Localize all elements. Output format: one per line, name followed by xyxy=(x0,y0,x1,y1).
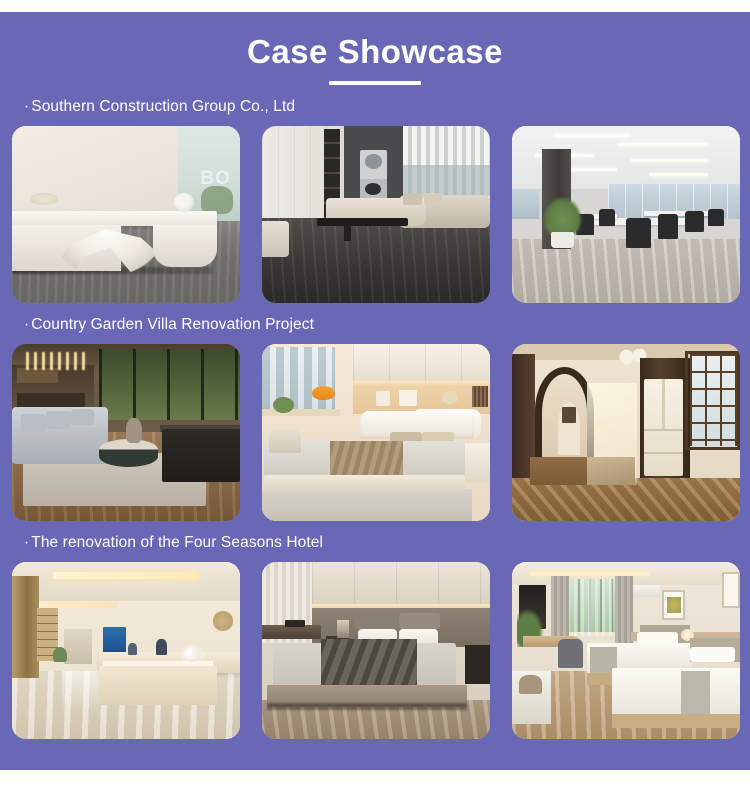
image-row: Hotel lobby with long reception counter,… xyxy=(0,562,750,739)
case-image-card[interactable]: Cream bedroom with upholstered bed, back… xyxy=(262,344,490,521)
case-image-card[interactable]: Hallway with arched doorway, cream refri… xyxy=(512,344,740,521)
section-heading-label: The renovation of the Four Seasons Hotel xyxy=(31,534,323,551)
section-heading-label: Country Garden Villa Renovation Project xyxy=(31,316,314,333)
hotel-lobby-reception-counter-image xyxy=(12,562,240,739)
case-image-card[interactable]: Minimalist living room with dark wood fl… xyxy=(262,126,490,303)
living-room-dark-wood-floor-image xyxy=(262,126,490,303)
open-plan-office-workstations-image xyxy=(512,126,740,303)
reception-desk-sculptural-white-image: BO xyxy=(12,126,240,303)
case-image-card[interactable]: BO Modern white sculptural reception des… xyxy=(12,126,240,303)
section-heading-label: Southern Construction Group Co., Ltd xyxy=(31,98,295,115)
hotel-room-platform-bed-image xyxy=(262,562,490,739)
bedroom-cream-backlit-shelf-image xyxy=(262,344,490,521)
case-image-card[interactable]: Hotel twin room with two beds, window wi… xyxy=(512,562,740,739)
page-title: Case Showcase xyxy=(0,12,750,72)
section-heading: ·Country Garden Villa Renovation Project xyxy=(24,316,750,334)
case-image-card[interactable]: Hotel lobby with long reception counter,… xyxy=(12,562,240,739)
villa-living-room-luxury-image xyxy=(12,344,240,521)
case-section: ·The renovation of the Four Seasons Hote… xyxy=(0,534,750,739)
hallway-arch-fridge-herringbone-image xyxy=(512,344,740,521)
image-row: BO Modern white sculptural reception des… xyxy=(0,126,750,303)
title-underline xyxy=(329,81,421,85)
hotel-room-twin-beds-image xyxy=(512,562,740,739)
case-image-card[interactable]: Open-plan office with rows of white desk… xyxy=(512,126,740,303)
case-showcase-banner: Case Showcase ·Southern Construction Gro… xyxy=(0,12,750,770)
page-root: Case Showcase ·Southern Construction Gro… xyxy=(0,0,750,792)
image-row: Luxury villa living room with chandelier… xyxy=(0,344,750,521)
bullet-marker: · xyxy=(24,316,29,333)
bullet-marker: · xyxy=(24,534,29,551)
case-image-card[interactable]: Hotel guest room with platform bed, grey… xyxy=(262,562,490,739)
section-heading: ·The renovation of the Four Seasons Hote… xyxy=(24,534,750,552)
case-image-card[interactable]: Luxury villa living room with chandelier… xyxy=(12,344,240,521)
case-section: ·Southern Construction Group Co., Ltd BO xyxy=(0,98,750,303)
case-section: ·Country Garden Villa Renovation Project xyxy=(0,316,750,521)
section-heading: ·Southern Construction Group Co., Ltd xyxy=(24,98,750,116)
bullet-marker: · xyxy=(24,98,29,115)
